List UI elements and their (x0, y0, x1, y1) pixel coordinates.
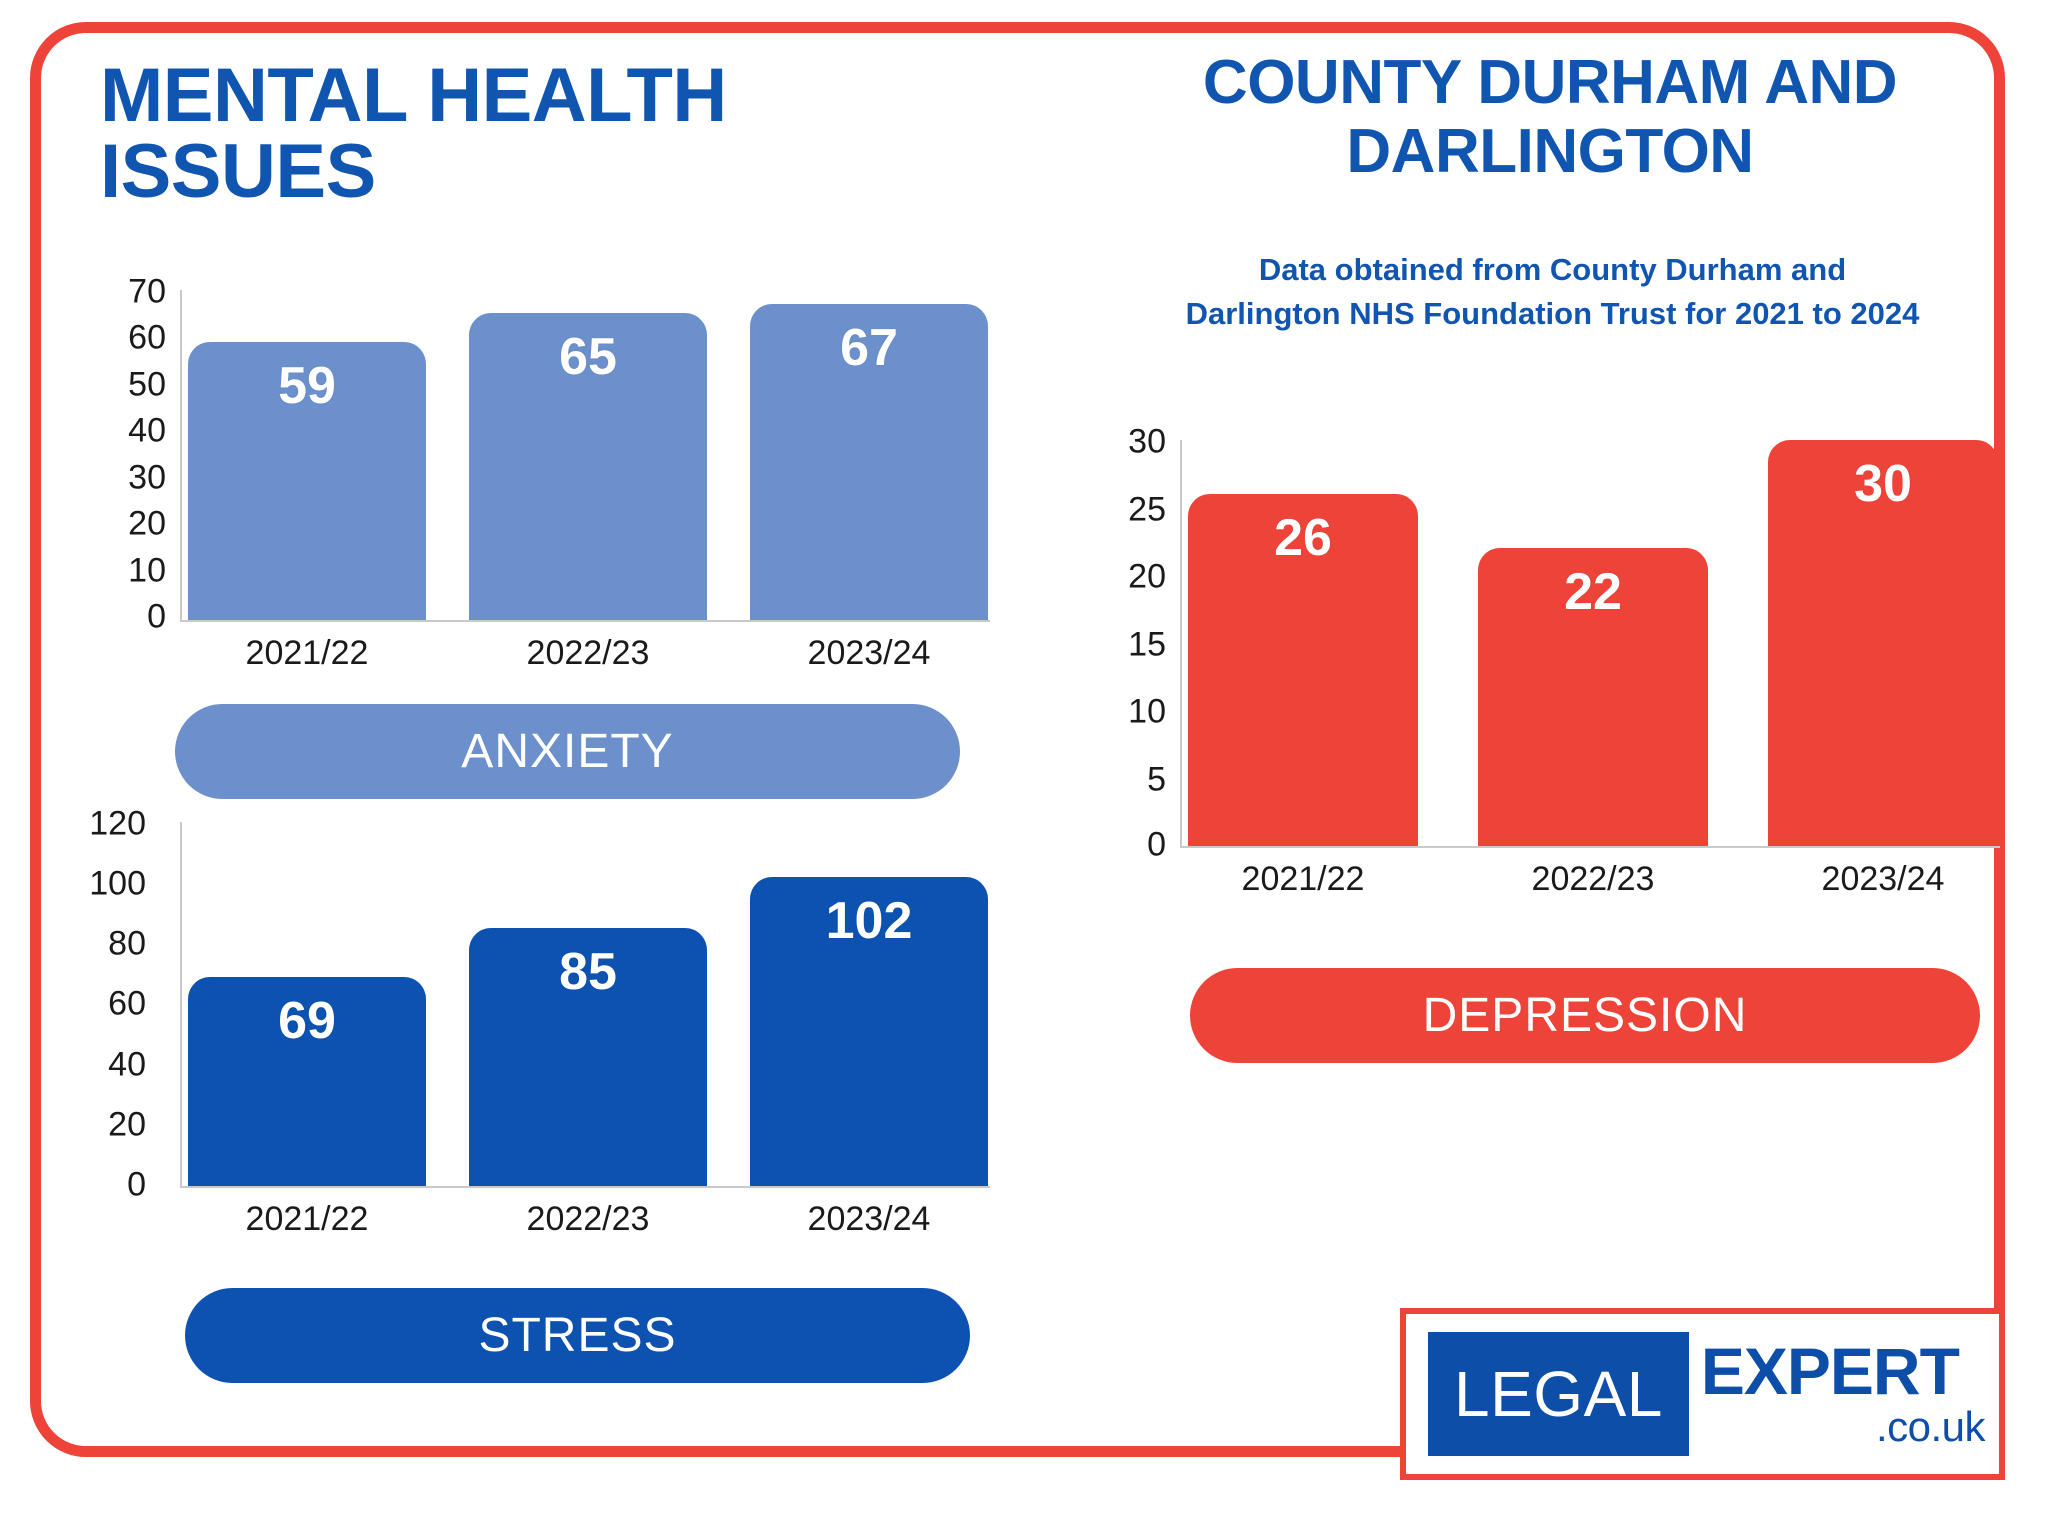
stress-bars: 69 85 102 (188, 822, 988, 1186)
depression-pill-label: DEPRESSION (1423, 988, 1748, 1043)
bar-anxiety-2022-23[interactable]: 65 (469, 313, 707, 620)
y-tick: 25 (1128, 491, 1166, 530)
stress-pill[interactable]: STRESS (185, 1288, 970, 1383)
right-title: COUNTY DURHAM AND DARLINGTON (1080, 48, 2020, 187)
anxiety-x-labels: 2021/22 2022/23 2023/24 (188, 634, 988, 673)
logo-legal-text: LEGAL (1454, 1362, 1663, 1426)
bar-value: 26 (1274, 512, 1332, 846)
anxiety-pill[interactable]: ANXIETY (175, 704, 960, 799)
stress-axis-horizontal (180, 1186, 990, 1188)
depression-y-axis: 30 25 20 15 10 5 0 (1080, 440, 1180, 846)
y-tick: 40 (108, 1046, 146, 1085)
y-tick: 100 (89, 865, 146, 904)
bar-column: 26 (1188, 440, 1418, 846)
bar-depression-2022-23[interactable]: 22 (1478, 548, 1708, 846)
y-tick: 10 (1128, 693, 1166, 732)
bar-value: 85 (559, 946, 617, 1186)
bar-value: 30 (1854, 458, 1912, 846)
y-tick: 30 (128, 459, 166, 498)
left-column: MENTAL HEALTH ISSUES 70 60 50 40 30 20 1… (0, 0, 1060, 1536)
depression-bars: 26 22 30 (1188, 440, 1998, 846)
y-tick: 40 (128, 412, 166, 451)
bar-value: 65 (559, 331, 617, 620)
stress-chart: 120 100 80 60 40 20 0 69 85 (60, 822, 980, 1252)
x-axis-label: 2021/22 (1188, 860, 1418, 899)
page-title-line1: MENTAL HEALTH (100, 58, 860, 134)
bar-value: 22 (1564, 566, 1622, 846)
y-tick: 0 (1147, 826, 1166, 865)
bar-value: 67 (840, 322, 898, 620)
page-title: MENTAL HEALTH ISSUES (100, 58, 860, 210)
bar-column: 59 (188, 290, 426, 620)
bar-value: 59 (278, 360, 336, 620)
bar-stress-2021-22[interactable]: 69 (188, 977, 426, 1186)
depression-chart: 30 25 20 15 10 5 0 26 22 (1080, 440, 2020, 910)
stress-y-axis: 120 100 80 60 40 20 0 (60, 822, 160, 1186)
y-tick: 5 (1147, 761, 1166, 800)
depression-axis-vertical (1180, 440, 1182, 848)
logo-right-group: EXPERT .co.uk (1689, 1314, 1999, 1474)
data-source-line1: Data obtained from County Durham and (1100, 248, 2005, 292)
y-tick: 50 (128, 366, 166, 405)
x-axis-label: 2022/23 (469, 634, 707, 673)
x-axis-label: 2023/24 (750, 1200, 988, 1239)
x-axis-label: 2021/22 (188, 634, 426, 673)
bar-column: 85 (469, 822, 707, 1186)
bar-value: 102 (826, 895, 913, 1186)
x-axis-label: 2022/23 (1478, 860, 1708, 899)
x-axis-label: 2023/24 (750, 634, 988, 673)
bar-stress-2022-23[interactable]: 85 (469, 928, 707, 1186)
bar-depression-2021-22[interactable]: 26 (1188, 494, 1418, 846)
bar-anxiety-2023-24[interactable]: 67 (750, 304, 988, 620)
anxiety-pill-label: ANXIETY (461, 724, 673, 779)
depression-pill[interactable]: DEPRESSION (1190, 968, 1980, 1063)
bar-column: 65 (469, 290, 707, 620)
y-tick: 15 (1128, 626, 1166, 665)
right-title-line2: DARLINGTON (1080, 117, 2020, 186)
anxiety-y-axis: 70 60 50 40 30 20 10 0 (80, 290, 180, 620)
y-tick: 120 (89, 805, 146, 844)
anxiety-bars: 59 65 67 (188, 290, 988, 620)
y-tick: 0 (147, 598, 166, 637)
depression-axis-horizontal (1180, 846, 2000, 848)
stress-x-labels: 2021/22 2022/23 2023/24 (188, 1200, 988, 1239)
logo-legal-box: LEGAL (1428, 1332, 1689, 1456)
bar-column: 102 (750, 822, 988, 1186)
infographic-root: MENTAL HEALTH ISSUES 70 60 50 40 30 20 1… (0, 0, 2048, 1536)
data-source-line2: Darlington NHS Foundation Trust for 2021… (1100, 292, 2005, 336)
bar-column: 69 (188, 822, 426, 1186)
stress-pill-label: STRESS (478, 1308, 676, 1363)
bar-column: 30 (1768, 440, 1998, 846)
y-tick: 20 (128, 505, 166, 544)
y-tick: 20 (108, 1106, 146, 1145)
bar-value: 69 (278, 995, 336, 1186)
bar-anxiety-2021-22[interactable]: 59 (188, 342, 426, 620)
bar-column: 67 (750, 290, 988, 620)
page-title-line2: ISSUES (100, 134, 860, 210)
anxiety-chart: 70 60 50 40 30 20 10 0 59 65 (80, 290, 980, 710)
legal-expert-logo[interactable]: LEGAL EXPERT .co.uk (1400, 1308, 2005, 1480)
logo-domain-text: .co.uk (1701, 1406, 1985, 1448)
y-tick: 0 (127, 1166, 146, 1205)
right-column: COUNTY DURHAM AND DARLINGTON Data obtain… (1060, 0, 2048, 1536)
y-tick: 60 (108, 985, 146, 1024)
y-tick: 70 (128, 273, 166, 312)
bar-stress-2023-24[interactable]: 102 (750, 877, 988, 1186)
anxiety-axis-horizontal (180, 620, 990, 622)
x-axis-label: 2021/22 (188, 1200, 426, 1239)
y-tick: 80 (108, 925, 146, 964)
bar-depression-2023-24[interactable]: 30 (1768, 440, 1998, 846)
y-tick: 30 (1128, 423, 1166, 462)
y-tick: 20 (1128, 558, 1166, 597)
x-axis-label: 2023/24 (1768, 860, 1998, 899)
anxiety-axis-vertical (180, 290, 182, 622)
y-tick: 60 (128, 319, 166, 358)
data-source-note: Data obtained from County Durham and Dar… (1100, 248, 2005, 336)
depression-x-labels: 2021/22 2022/23 2023/24 (1188, 860, 1998, 899)
y-tick: 10 (128, 552, 166, 591)
logo-expert-text: EXPERT (1701, 1340, 1985, 1403)
bar-column: 22 (1478, 440, 1708, 846)
right-title-line1: COUNTY DURHAM AND (1080, 48, 2020, 117)
stress-axis-vertical (180, 822, 182, 1188)
x-axis-label: 2022/23 (469, 1200, 707, 1239)
